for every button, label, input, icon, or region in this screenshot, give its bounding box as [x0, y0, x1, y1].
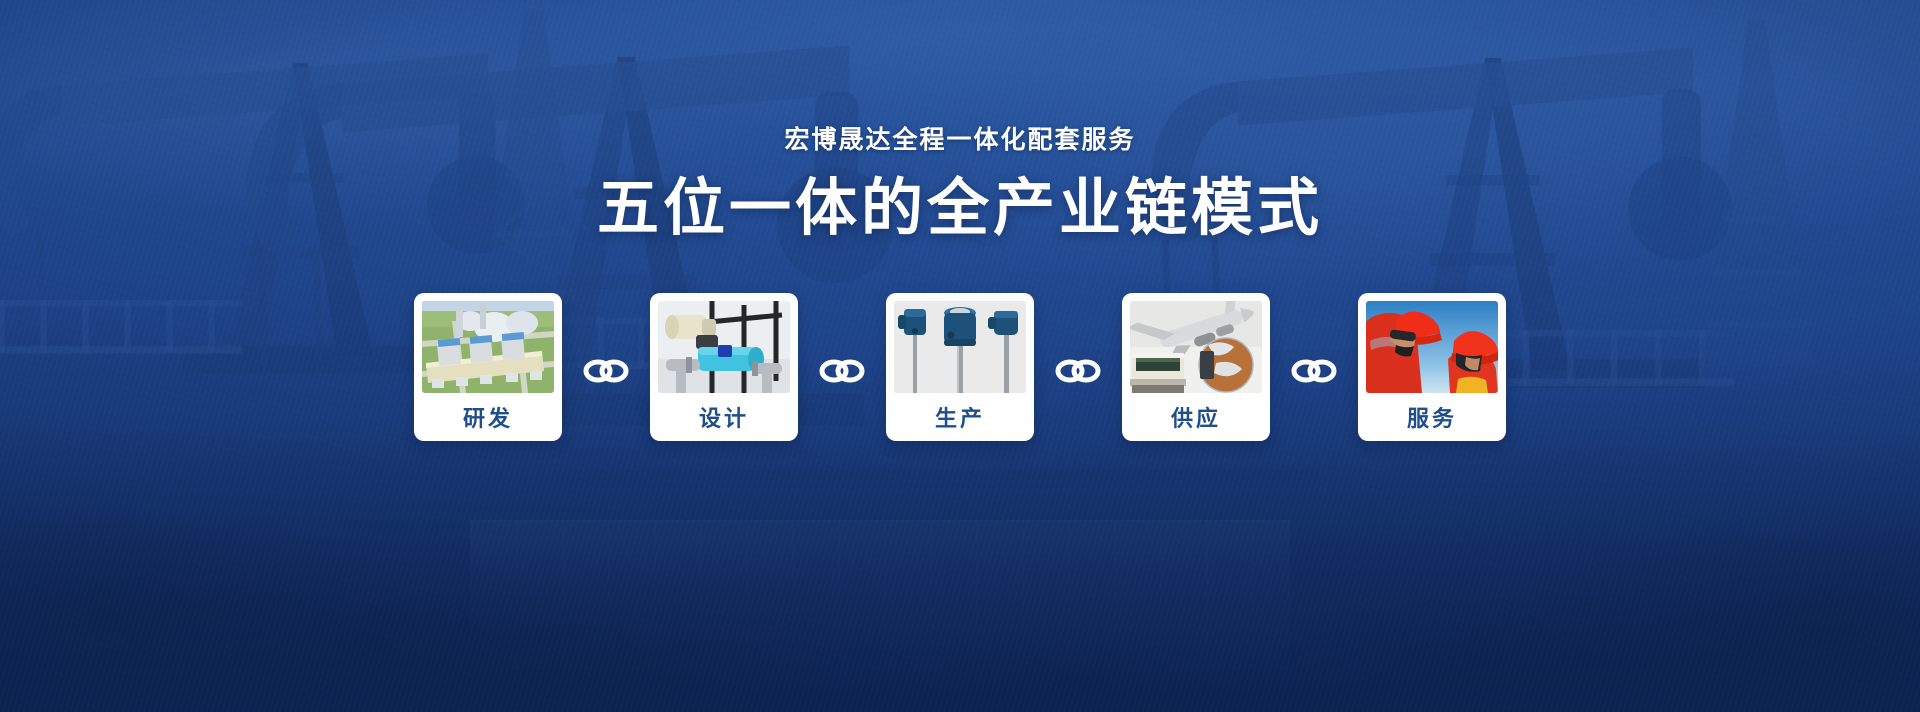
- thumb-cad-piping-render: [658, 301, 790, 393]
- chain-card-label: 设计: [658, 393, 790, 441]
- chain-card-research[interactable]: 研发: [414, 293, 562, 441]
- value-chain-row: 研发: [414, 293, 1506, 441]
- chain-card-service[interactable]: 服务: [1358, 293, 1506, 441]
- chain-card-label: 服务: [1366, 393, 1498, 441]
- chain-link-icon: [562, 348, 650, 386]
- chain-card-label: 供应: [1130, 393, 1262, 441]
- banner-subtitle: 宏博晟达全程一体化配套服务: [784, 120, 1135, 156]
- thumb-logistics-collage: [1130, 301, 1262, 393]
- chain-link-icon: [1034, 348, 1122, 386]
- chain-link-icon: [1270, 348, 1358, 386]
- thumb-field-workers: [1366, 301, 1498, 393]
- chain-link-icon: [798, 348, 886, 386]
- chain-card-supply[interactable]: 供应: [1122, 293, 1270, 441]
- banner-content: 宏博晟达全程一体化配套服务 五位一体的全产业链模式: [0, 0, 1920, 712]
- chain-card-label: 生产: [894, 393, 1026, 441]
- banner-hero: 宏博晟达全程一体化配套服务 五位一体的全产业链模式: [0, 0, 1920, 712]
- chain-card-production[interactable]: 生产: [886, 293, 1034, 441]
- thumb-level-sensor-products: [894, 301, 1026, 393]
- thumb-power-plant-aerial: [422, 301, 554, 393]
- chain-card-design[interactable]: 设计: [650, 293, 798, 441]
- chain-card-label: 研发: [422, 393, 554, 441]
- banner-title: 五位一体的全产业链模式: [597, 176, 1323, 241]
